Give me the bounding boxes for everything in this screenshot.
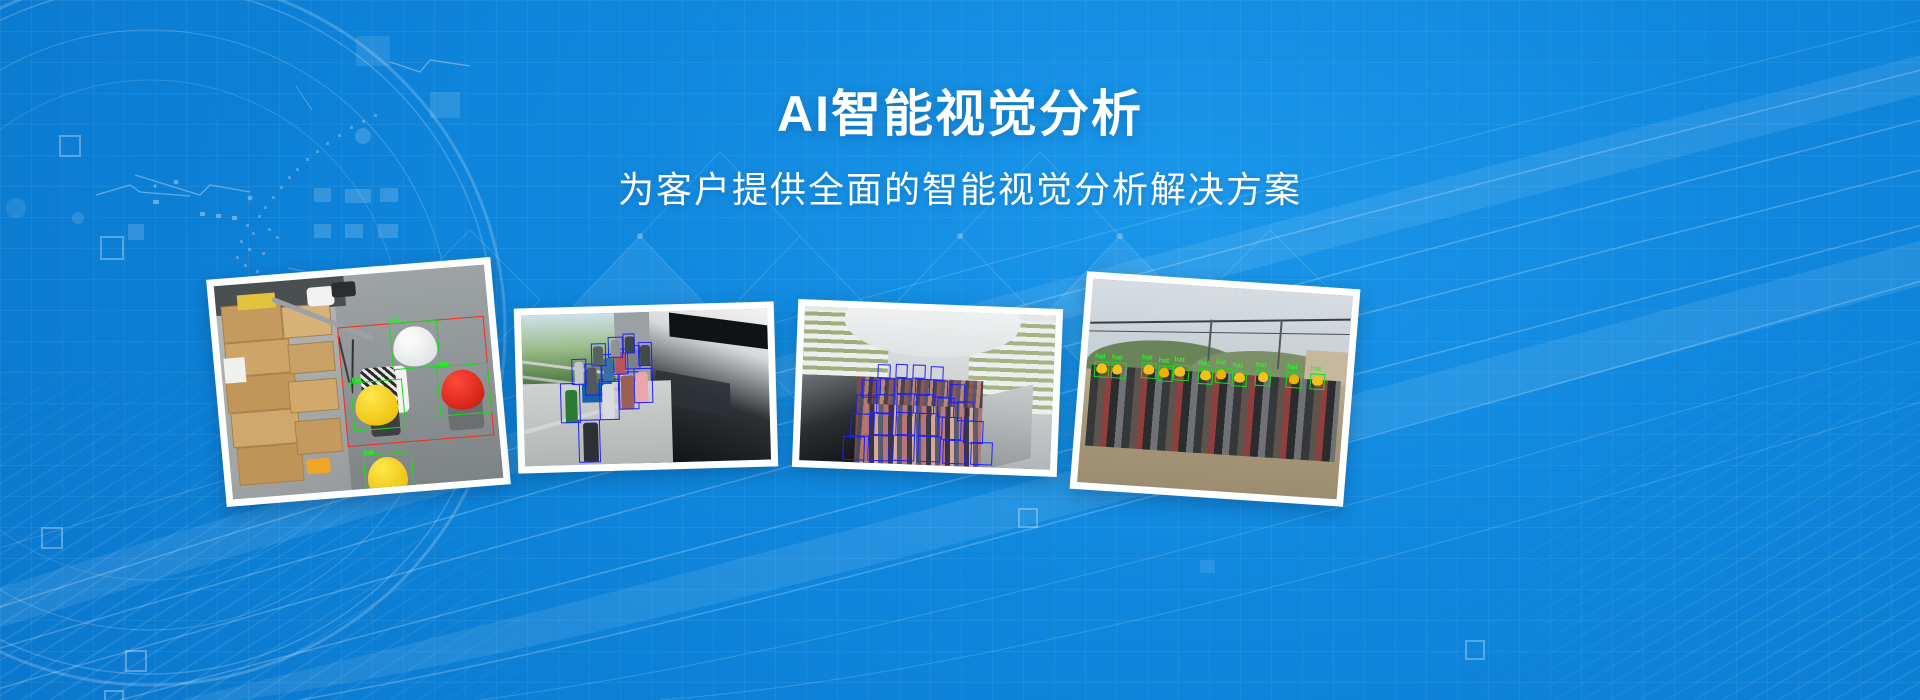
- detection-box-person: [892, 434, 916, 461]
- detection-label: hat: [1158, 358, 1169, 367]
- detection-box-person: [963, 420, 984, 444]
- photo-outdoor-hat-detection: hat hat hat hat hat hat hat hat hat hat: [1077, 279, 1353, 500]
- detection-box-helmet: [389, 320, 442, 371]
- detection-box-helmet: [1214, 367, 1231, 384]
- photo-warehouse-helmet-detection: hat hat hat hat: [214, 265, 504, 500]
- detection-label: hat: [363, 449, 374, 458]
- detection-label: hat: [1287, 364, 1298, 373]
- detection-box-person: [936, 398, 954, 419]
- detection-box-person: [930, 367, 943, 381]
- detection-box-helmet: [436, 363, 492, 416]
- detection-box-person: [913, 364, 926, 378]
- detection-box-person: [560, 383, 581, 423]
- detection-box-person: [942, 439, 966, 464]
- photo-station-crowd-detection: [799, 306, 1056, 470]
- detection-box-helmet: [1197, 367, 1214, 384]
- detection-label: hat: [1256, 362, 1267, 371]
- detection-box-helmet: [1173, 364, 1190, 381]
- gallery-card-footbridge-crowd-detection[interactable]: [514, 301, 779, 473]
- detection-box-helmet: [1093, 361, 1110, 378]
- detection-box-person: [637, 342, 652, 367]
- detection-box-person: [918, 412, 939, 436]
- detection-label: hat: [1111, 355, 1122, 364]
- detection-box-person: [571, 359, 586, 385]
- detection-box-helmet: [362, 451, 414, 493]
- detection-box-person: [856, 395, 874, 416]
- page-subtitle: 为客户提供全面的智能视觉分析解决方案: [0, 168, 1920, 211]
- detection-box-person: [917, 435, 941, 462]
- detection-box-person: [896, 411, 917, 435]
- detection-box-person: [867, 435, 891, 462]
- detection-box-helmet: [1254, 369, 1271, 386]
- detection-box-person: [633, 368, 654, 403]
- detection-box-person: [850, 413, 871, 437]
- ai-vision-banner: AI智能视觉分析 为客户提供全面的智能视觉分析解决方案: [0, 0, 1920, 700]
- detection-box-person: [876, 394, 894, 415]
- detection-box-person: [970, 442, 993, 466]
- headline-block: AI智能视觉分析 为客户提供全面的智能视觉分析解决方案: [0, 86, 1920, 211]
- detection-box-person: [591, 343, 606, 366]
- detection-box-person: [578, 419, 601, 463]
- detection-box-person: [878, 365, 891, 379]
- detection-box-person: [941, 416, 962, 440]
- detection-label: hat: [1095, 353, 1106, 362]
- detection-box-person: [608, 337, 623, 359]
- detection-label: hat: [1198, 360, 1209, 369]
- detection-label: hat: [437, 361, 448, 370]
- detection-box-helmet: [1286, 371, 1303, 388]
- detection-box-person: [842, 436, 866, 461]
- detection-box-person: [895, 364, 908, 378]
- detection-box-helmet: [350, 379, 406, 432]
- detection-label: hat: [1310, 366, 1321, 375]
- gallery-card-warehouse-helmet-detection[interactable]: hat hat hat hat: [206, 257, 511, 507]
- detection-label: hat: [1141, 355, 1152, 364]
- detection-label: hat: [1215, 359, 1226, 368]
- detection-box-helmet: [1157, 365, 1174, 382]
- detection-box-helmet: [1309, 373, 1326, 390]
- detection-label: hat: [1174, 357, 1185, 366]
- detection-label: hat: [351, 377, 362, 386]
- detection-box-person: [599, 379, 620, 420]
- page-title: AI智能视觉分析: [0, 86, 1920, 144]
- gallery-card-station-crowd-detection[interactable]: [792, 299, 1063, 477]
- detection-label: hat: [389, 318, 400, 327]
- detection-box-helmet: [1110, 362, 1127, 379]
- detection-box-helmet: [1140, 362, 1157, 379]
- detection-box-person: [873, 412, 894, 436]
- gallery-card-outdoor-hat-detection[interactable]: hat hat hat hat hat hat hat hat hat hat: [1070, 271, 1361, 506]
- detection-box-helmet: [1231, 370, 1248, 387]
- detection-box-person: [622, 333, 635, 353]
- photo-footbridge-crowd-detection: [521, 309, 771, 467]
- detection-label: hat: [1232, 363, 1243, 372]
